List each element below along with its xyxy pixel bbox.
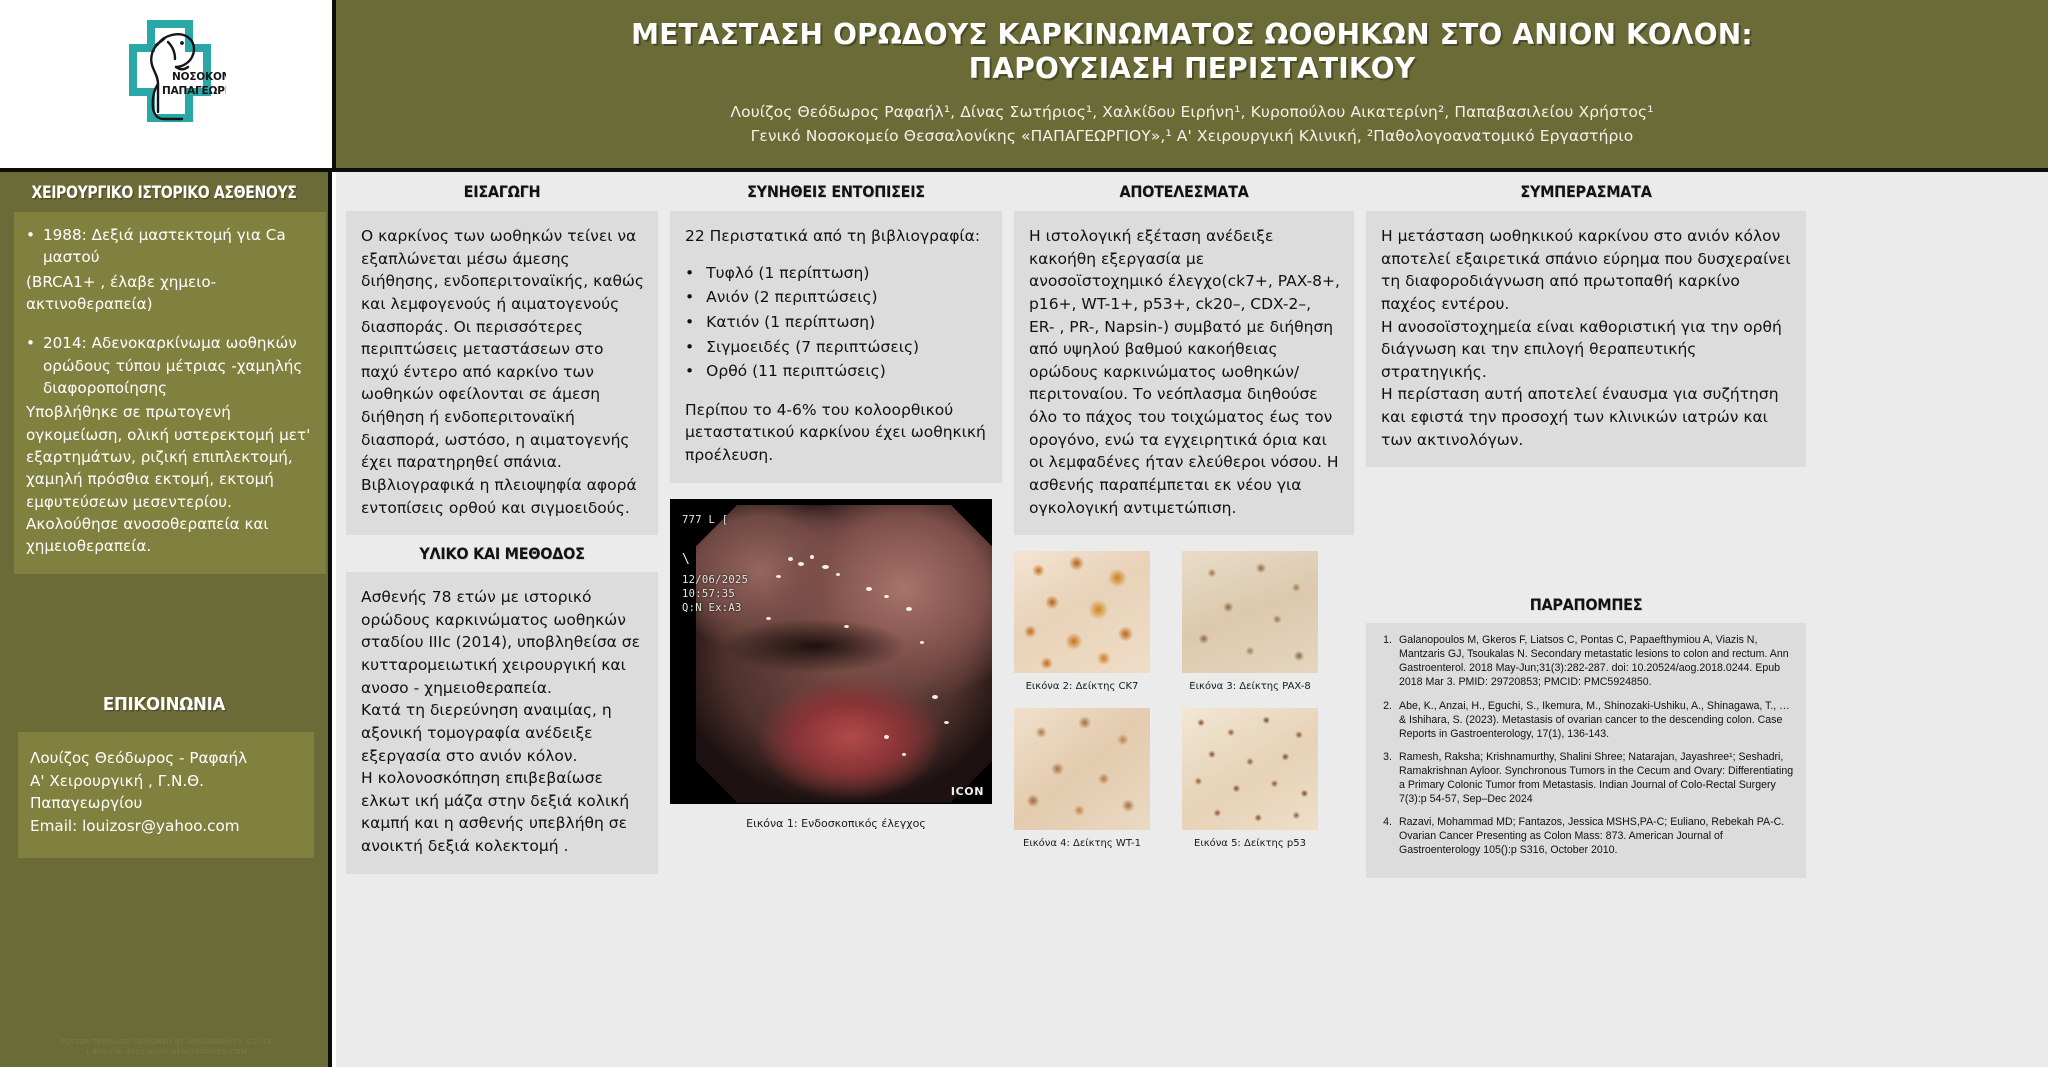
poster-root: ΝΟΣΟΚΟΜΕΙΟ ΠΑΠΑΓΕΩΡΓΙΟΥ ΜΕΤΑΣΤΑΣΗ ΟΡΩΔΟΥ… <box>0 0 2048 1067</box>
locations-spacer <box>685 248 989 262</box>
list-item-label: Ορθό (11 περιπτώσεις) <box>706 360 886 383</box>
specular-highlight <box>788 557 793 561</box>
specular-highlight <box>884 735 889 739</box>
authors-line: Λουίζος Θεόδωρος Ραφαήλ¹, Δίνας Σωτήριος… <box>730 100 1653 124</box>
list-item-label: Τυφλό (1 περίπτωση) <box>706 262 869 285</box>
locations-intro: 22 Περιστατικά από τη βιβλιογραφία: <box>685 225 989 248</box>
ihc-cell-p53: Εικόνα 5: Δείκτης p53 <box>1182 708 1318 861</box>
poster-header: ΝΟΣΟΚΟΜΕΙΟ ΠΑΠΑΓΕΩΡΓΙΟΥ ΜΕΤΑΣΤΑΣΗ ΟΡΩΔΟΥ… <box>0 0 2048 172</box>
list-item-label: Κατιόν (1 περίπτωση) <box>706 311 875 334</box>
endoscopy-osd-top: 777 L [ <box>682 513 728 527</box>
patient-history-box: • 1988: Δεξιά μαστεκτομή για Ca μαστού (… <box>14 212 326 574</box>
column-results-ihc: ΑΠΟΤΕΛΕΣΜΑΤΑ Η ιστολογική εξέταση ανέδει… <box>1014 172 1354 1067</box>
specular-highlight <box>776 575 781 578</box>
history-bullet-1-cont: (BRCA1+ , έλαβε χημειο-ακτινοθεραπεία) <box>26 271 312 316</box>
endoscopy-osd-date: 12/06/2025 <box>682 573 748 587</box>
specular-highlight <box>944 721 949 724</box>
list-item-label: Σιγμοειδές (7 περιπτώσεις) <box>706 336 919 359</box>
column4-spacer <box>1366 467 1806 586</box>
sidebar-heading-history: ΧΕΙΡΟΥΡΓΙΚΟ ΙΣΤΟΡΙΚΟ ΑΣΘΕΝΟΥΣ <box>13 172 315 212</box>
specular-highlight <box>766 617 771 620</box>
bullet-dot-icon: • <box>26 332 35 399</box>
section-heading-conclusions: ΣΥΜΠΕΡΑΣΜΑΤΑ <box>1388 172 1784 211</box>
results-paragraph: Η ιστολογική εξέταση ανέδειξε κακοήθη εξ… <box>1029 225 1341 519</box>
locations-box: 22 Περιστατικά από τη βιβλιογραφία: • Τυ… <box>670 211 1002 483</box>
section-heading-intro: ΕΙΣΑΓΩΓΗ <box>362 172 643 211</box>
ihc-caption-wt1: Εικόνα 4: Δείκτης WT-1 <box>1014 830 1150 861</box>
ihc-caption-p53: Εικόνα 5: Δείκτης p53 <box>1182 830 1318 861</box>
reference-number: 3. <box>1374 750 1392 806</box>
template-credit-line-2: 1.800.790.4001 WWW.GENIGRAPHICS.COM <box>0 1047 332 1057</box>
endoscopy-figure: 777 L [ \ 12/06/2025 10:57:35 Q:N Ex:A3 … <box>670 499 1002 831</box>
history-bullet-2-cont2: Ακολούθησε ανοσοθεραπεία και χημειοθεραπ… <box>26 513 312 558</box>
list-item: • Ανιόν (2 περιπτώσεις) <box>685 286 989 309</box>
endoscopy-osd-params: Q:N Ex:A3 <box>682 601 742 615</box>
locations-spacer-2 <box>685 385 989 399</box>
sidebar-spacer <box>0 574 328 694</box>
reference-item: 2. Abe, K., Anzai, H., Eguchi, S., Ikemu… <box>1374 699 1796 741</box>
conclusions-paragraph-3: Η περίσταση αυτή αποτελεί έναυσμα για συ… <box>1381 383 1793 451</box>
ihc-cell-ck7: Εικόνα 2: Δείκτης CK7 <box>1014 551 1150 704</box>
locations-closing: Περίπου το 4-6% του κολοορθικού μεταστατ… <box>685 399 989 467</box>
endoscopy-shadow <box>725 619 905 673</box>
ihc-caption-ck7: Εικόνα 2: Δείκτης CK7 <box>1014 673 1150 704</box>
history-gap <box>26 315 312 332</box>
reference-text: Abe, K., Anzai, H., Eguchi, S., Ikemura,… <box>1399 699 1796 741</box>
specular-highlight <box>920 641 924 644</box>
reference-text: Ramesh, Raksha; Krishnamurthy, Shalini S… <box>1399 750 1796 806</box>
bullet-dot-icon: • <box>26 224 35 269</box>
list-item-label: Ανιόν (2 περιπτώσεις) <box>706 286 877 309</box>
ihc-image-ck7 <box>1014 551 1150 673</box>
conclusions-paragraph-2: Η ανοσοϊστοχημεία είναι καθοριστική για … <box>1381 316 1793 384</box>
reference-text: Galanopoulos M, Gkeros F, Liatsos C, Pon… <box>1399 633 1796 689</box>
ihc-cell-pax8: Εικόνα 3: Δείκτης PAX-8 <box>1182 551 1318 704</box>
ihc-figure-grid: Εικόνα 2: Δείκτης CK7 Εικόνα 3: Δείκτης … <box>1014 551 1354 860</box>
column-locations-figure: ΣΥΝΗΘΕΙΣ ΕΝΤΟΠΙΣΕΙΣ 22 Περιστατικά από τ… <box>670 172 1002 1067</box>
specular-highlight <box>844 625 849 628</box>
locations-list: • Τυφλό (1 περίπτωση) • Ανιόν (2 περιπτώ… <box>685 262 989 383</box>
reference-text: Razavi, Mohammad MD; Fantazos, Jessica M… <box>1399 815 1796 857</box>
title-line-1: ΜΕΤΑΣΤΑΣΗ ΟΡΩΔΟΥΣ ΚΑΡΚΙΝΩΜΑΤΟΣ ΩΟΘΗΚΩΝ Σ… <box>631 18 1753 52</box>
logo-text-line1: ΝΟΣΟΚΟΜΕΙΟ <box>172 71 226 83</box>
section-heading-methods: ΥΛΙΚΟ ΚΑΙ ΜΕΘΟΔΟΣ <box>362 535 643 572</box>
logo-cell: ΝΟΣΟΚΟΜΕΙΟ ΠΑΠΑΓΕΩΡΓΙΟΥ <box>0 0 332 172</box>
contact-box: Λουίζος Θεόδωρος - Ραφαήλ Α' Χειρουργική… <box>18 732 314 858</box>
specular-highlight <box>822 565 829 569</box>
section-heading-references: ΠΑΡΑΠΟΜΠΕΣ <box>1388 586 1784 623</box>
contact-email[interactable]: Email: louizosr@yahoo.com <box>30 815 300 838</box>
methods-paragraph-1: Ασθενής 78 ετών με ιστορικό ορώδους καρκ… <box>361 586 645 699</box>
logo-text-line2: ΠΑΠΑΓΕΩΡΓΙΟΥ <box>162 85 226 97</box>
endoscopy-osd-time: 10:57:35 <box>682 587 735 601</box>
reference-number: 2. <box>1374 699 1392 741</box>
intro-paragraph-2: Βιβλιογραφικά η πλειοψηφία αφορά εντοπίσ… <box>361 474 645 519</box>
specular-highlight <box>836 573 840 576</box>
history-bullet-2-label: 2014: Αδενοκαρκίνωμα ωοθηκών ορώδους τύπ… <box>43 332 312 399</box>
specular-highlight <box>884 595 889 598</box>
endoscopy-image: 777 L [ \ 12/06/2025 10:57:35 Q:N Ex:A3 … <box>670 499 992 804</box>
list-item: • Ορθό (11 περιπτώσεις) <box>685 360 989 383</box>
reference-item: 3. Ramesh, Raksha; Krishnamurthy, Shalin… <box>1374 750 1796 806</box>
intro-box: Ο καρκίνος των ωοθηκών τείνει να εξαπλών… <box>346 211 658 535</box>
title-line-2: ΠΑΡΟΥΣΙΑΣΗ ΠΕΡΙΣΤΑΤΙΚΟΥ <box>631 52 1753 86</box>
hospital-cross-bird-icon: ΝΟΣΟΚΟΜΕΙΟ ΠΑΠΑΓΕΩΡΓΙΟΥ <box>106 18 226 150</box>
references-box: 1. Galanopoulos M, Gkeros F, Liatsos C, … <box>1366 623 1806 878</box>
history-bullet-1: • 1988: Δεξιά μαστεκτομή για Ca μαστού <box>26 224 312 269</box>
template-credit-line-1: POSTER TEMPLATE DESIGNED BY GENIGRAPHICS… <box>0 1037 332 1047</box>
history-bullet-1-label: 1988: Δεξιά μαστεκτομή για Ca μαστού <box>43 224 312 269</box>
references-list: 1. Galanopoulos M, Gkeros F, Liatsos C, … <box>1374 633 1796 857</box>
author-block: Λουίζος Θεόδωρος Ραφαήλ¹, Δίνας Σωτήριος… <box>730 100 1653 148</box>
endoscopy-osd-mark: \ <box>682 551 690 569</box>
list-item: • Τυφλό (1 περίπτωση) <box>685 262 989 285</box>
template-credit: POSTER TEMPLATE DESIGNED BY GENIGRAPHICS… <box>0 1037 332 1057</box>
history-bullet-2-cont: Υποβλήθηκε σε πρωτογενή ογκομείωση, ολικ… <box>26 401 312 513</box>
ihc-caption-pax8: Εικόνα 3: Δείκτης PAX-8 <box>1182 673 1318 704</box>
specular-highlight <box>798 562 804 566</box>
specular-highlight <box>906 607 912 611</box>
endoscopy-brand-label: ICON <box>951 785 984 798</box>
bullet-dot-icon: • <box>685 286 694 309</box>
list-item: • Σιγμοειδές (7 περιπτώσεις) <box>685 336 989 359</box>
column-container: ΕΙΣΑΓΩΓΗ Ο καρκίνος των ωοθηκών τείνει ν… <box>346 172 2038 1067</box>
column-intro-methods: ΕΙΣΑΓΩΓΗ Ο καρκίνος των ωοθηκών τείνει ν… <box>346 172 658 1067</box>
methods-paragraph-3: Η κολονοσκόπηση επιβεβαίωσε ελκωτ ική μά… <box>361 767 645 858</box>
specular-highlight <box>810 555 814 559</box>
results-box: Η ιστολογική εξέταση ανέδειξε κακοήθη εξ… <box>1014 211 1354 535</box>
intro-paragraph-1: Ο καρκίνος των ωοθηκών τείνει να εξαπλών… <box>361 225 645 474</box>
section-heading-results: ΑΠΟΤΕΛΕΣΜΑΤΑ <box>1031 172 1337 211</box>
reference-number: 4. <box>1374 815 1392 857</box>
bullet-dot-icon: • <box>685 311 694 334</box>
history-bullet-2: • 2014: Αδενοκαρκίνωμα ωοθηκών ορώδους τ… <box>26 332 312 399</box>
ihc-image-pax8 <box>1182 551 1318 673</box>
reference-number: 1. <box>1374 633 1392 689</box>
sidebar-heading-contact: ΕΠΙΚΟΙΝΩΝΙΑ <box>13 694 315 715</box>
ihc-image-wt1 <box>1014 708 1150 830</box>
ihc-cell-wt1: Εικόνα 4: Δείκτης WT-1 <box>1014 708 1150 861</box>
column-conclusions-references: ΣΥΜΠΕΡΑΣΜΑΤΑ Η μετάσταση ωοθηκικού καρκί… <box>1366 172 1806 1067</box>
specular-highlight <box>902 753 906 756</box>
ihc-image-p53 <box>1182 708 1318 830</box>
hospital-logo: ΝΟΣΟΚΟΜΕΙΟ ΠΑΠΑΓΕΩΡΓΙΟΥ <box>106 18 226 150</box>
reference-item: 1. Galanopoulos M, Gkeros F, Liatsos C, … <box>1374 633 1796 689</box>
page-title: ΜΕΤΑΣΤΑΣΗ ΟΡΩΔΟΥΣ ΚΑΡΚΙΝΩΜΑΤΟΣ ΩΟΘΗΚΩΝ Σ… <box>631 18 1753 86</box>
list-item: • Κατιόν (1 περίπτωση) <box>685 311 989 334</box>
sidebar: ΧΕΙΡΟΥΡΓΙΚΟ ΙΣΤΟΡΙΚΟ ΑΣΘΕΝΟΥΣ • 1988: Δε… <box>0 172 332 1067</box>
methods-box: Ασθενής 78 ετών με ιστορικό ορώδους καρκ… <box>346 572 658 874</box>
bullet-dot-icon: • <box>685 360 694 383</box>
title-cell: ΜΕΤΑΣΤΑΣΗ ΟΡΩΔΟΥΣ ΚΑΡΚΙΝΩΜΑΤΟΣ ΩΟΘΗΚΩΝ Σ… <box>332 0 2048 172</box>
endoscopy-caption: Εικόνα 1: Ενδοσκοπικός έλεγχος <box>670 817 1002 831</box>
poster-body: ΕΙΣΑΓΩΓΗ Ο καρκίνος των ωοθηκών τείνει ν… <box>336 172 2048 1067</box>
section-heading-locations: ΣΥΝΗΘΕΙΣ ΕΝΤΟΠΙΣΕΙΣ <box>687 172 986 211</box>
reference-item: 4. Razavi, Mohammad MD; Fantazos, Jessic… <box>1374 815 1796 857</box>
specular-highlight <box>932 695 938 699</box>
affiliation-line: Γενικό Νοσοκομείο Θεσσαλονίκης «ΠΑΠΑΓΕΩΡ… <box>730 124 1653 148</box>
conclusions-box: Η μετάσταση ωοθηκικού καρκίνου στο ανιόν… <box>1366 211 1806 467</box>
conclusions-paragraph-1: Η μετάσταση ωοθηκικού καρκίνου στο ανιόν… <box>1381 225 1793 316</box>
methods-paragraph-2: Κατά τη διερεύνηση αναιμίας, η αξονική τ… <box>361 699 645 767</box>
bullet-dot-icon: • <box>685 262 694 285</box>
contact-department: Α' Χειρουργική , Γ.Ν.Θ. Παπαγεωργίου <box>30 770 300 816</box>
specular-highlight <box>866 587 872 591</box>
bullet-dot-icon: • <box>685 336 694 359</box>
contact-name: Λουίζος Θεόδωρος - Ραφαήλ <box>30 747 300 770</box>
